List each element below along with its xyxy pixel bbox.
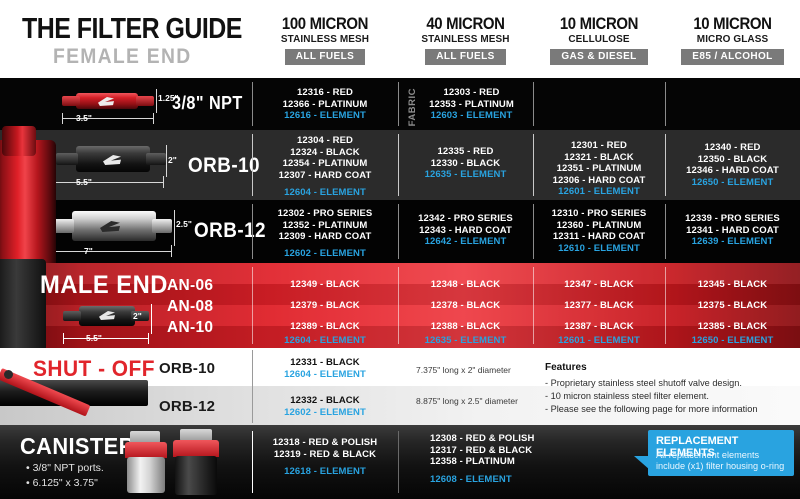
row-label-an06: AN-06 [167,277,213,295]
dimension-tick-right [148,333,149,344]
part-code: 12304 - RED [252,135,398,147]
cell-npt-10micron-cellulose [533,78,665,130]
part-code: 12316 - RED [252,87,398,99]
valve-pivot-icon [4,370,13,379]
filter-end-left [56,153,78,165]
part-code: 12303 - RED [410,87,533,99]
cell-npt-10micron-microglass [665,78,800,130]
part-code: 12387 - BLACK [533,321,665,333]
female-end-subtitle: FEMALE END [53,45,191,69]
column-fuel-badge: E85 / ALCOHOL [681,49,783,65]
part-code: 12331 - BLACK [252,357,398,369]
dimension-tick-left [62,113,63,124]
part-code: 12349 - BLACK [252,279,398,291]
canister-photo-polish [124,431,168,493]
part-code-element: 12635 - ELEMENT [398,335,533,347]
cell-npt-100micron: 12316 - RED 12366 - PLATINUM 12616 - ELE… [252,78,398,130]
filter-guide-page: THE FILTER GUIDE FEMALE END 100 MICRON S… [0,0,800,499]
part-code-element: 12642 - ELEMENT [398,236,533,248]
part-code: 12375 - BLACK [665,300,800,312]
part-code: 12306 - HARD COAT [533,175,665,187]
part-code-element: 12603 - ELEMENT [410,110,533,122]
canister-cap [173,440,219,457]
page-title: THE FILTER GUIDE [22,13,242,46]
part-code: 12339 - PRO SERIES [665,213,800,225]
dimension-line-diameter [174,210,175,246]
column-material-label: STAINLESS MESH [401,33,529,46]
column-material-label: CELLULOSE [536,33,661,46]
part-code-element: 12650 - ELEMENT [665,335,800,347]
part-code: 12350 - BLACK [665,154,800,166]
cell-canister-100micron: 12318 - RED & POLISH 12319 - RED & BLACK… [252,425,398,499]
part-code: 12352 - PLATINUM [252,220,398,232]
canister-label: CANISTER [20,433,135,460]
dimension-line-length [63,338,149,339]
shutoff-section: SHUT - OFF ORB-10 ORB-12 12331 - BLACK 1… [0,348,800,425]
part-code-element: 12639 - ELEMENT [665,236,800,248]
column-fuel-badge: ALL FUELS [425,49,505,65]
part-code: 12335 - RED [398,146,533,158]
part-code: 12348 - BLACK [398,279,533,291]
part-code: 12353 - PLATINUM [410,99,533,111]
table-row-npt: 3.5" 1.25" 3/8" NPT 12316 - RED 12366 - … [0,78,800,130]
part-code: 12330 - BLACK [398,158,533,170]
row-label-shutoff-orb10: ORB-10 [159,360,215,377]
column-header-10-micron-micro-glass: 10 MICRON MICRO GLASS E85 / ALCOHOL [665,14,800,65]
filter-illustration-npt [62,91,154,111]
column-header-100-micron: 100 MICRON STAINLESS MESH ALL FUELS [252,14,398,65]
cell-male-10micron-cellulose: 12347 - BLACK 12377 - BLACK 12387 - BLAC… [533,263,665,348]
cell-male-100micron: 12349 - BLACK 12379 - BLACK 12389 - BLAC… [252,263,398,348]
part-code-element: 12604 - ELEMENT [252,369,398,381]
filter-illustration-orb10 [56,146,166,172]
cell-npt-40micron: FABRIC 12303 - RED 12353 - PLATINUM 1260… [398,78,533,130]
filter-end-right [152,219,172,233]
part-code-element: 12635 - ELEMENT [398,169,533,181]
cell-male-40micron: 12348 - BLACK 12378 - BLACK 12388 - BLAC… [398,263,533,348]
part-code: 12302 - PRO SERIES [252,208,398,220]
part-code: 12379 - BLACK [252,300,398,312]
part-code: 12341 - HARD COAT [665,225,800,237]
replacement-badge-line1: All replacement elements [656,450,759,460]
part-code: 12366 - PLATINUM [252,99,398,111]
part-code: 12340 - RED [665,142,800,154]
shutoff-dims-orb12: 8.875" long x 2.5" diameter [416,396,518,406]
part-code: 12347 - BLACK [533,279,665,291]
part-code: 12319 - RED & BLACK [252,449,398,461]
dimension-line-length [50,251,172,252]
part-code: 12345 - BLACK [665,279,800,291]
dimension-tick-right [163,176,164,188]
row-label-an08: AN-08 [167,298,213,316]
part-code-element: 12650 - ELEMENT [665,177,800,189]
part-code: 12308 - RED & POLISH [430,433,610,445]
column-material-label: STAINLESS MESH [256,33,395,46]
canister-photo-black [172,429,220,495]
cell-canister-10micron-cellulose: 12308 - RED & POLISH 12317 - RED & BLACK… [430,425,610,499]
feature-item: - 10 micron stainless steel filter eleme… [545,391,709,401]
replacement-badge-line2: include (x1) filter housing o-ring [656,461,784,471]
cell-shutoff-orb10-codes: 12331 - BLACK 12604 - ELEMENT 12332 - BL… [252,348,398,425]
part-code: 12310 - PRO SERIES [533,208,665,220]
part-code: 12343 - HARD COAT [398,225,533,237]
part-code: 12354 - PLATINUM [252,158,398,170]
part-code: 12311 - HARD COAT [533,231,665,243]
part-code-element: 12618 - ELEMENT [252,466,398,478]
column-header-40-micron: 40 MICRON STAINLESS MESH ALL FUELS [398,14,533,65]
dimension-line-diameter [156,89,157,113]
canister-body [175,456,217,495]
feature-item: - Please see the following page for more… [545,404,757,414]
part-code: 12346 - HARD COAT [665,165,800,177]
part-code: 12389 - BLACK [252,321,398,333]
cell-orb12-100micron: 12302 - PRO SERIES 12352 - PLATINUM 1230… [252,200,398,263]
part-code: 12324 - BLACK [252,147,398,159]
part-code: 12377 - BLACK [533,300,665,312]
column-fuel-badge: ALL FUELS [285,49,365,65]
features-title: Features [545,362,587,373]
cell-orb10-100micron: 12304 - RED 12324 - BLACK 12354 - PLATIN… [252,130,398,200]
column-header-10-micron-cellulose: 10 MICRON CELLULOSE GAS & DIESEL [533,14,665,65]
part-code: 12309 - HARD COAT [252,231,398,243]
filter-illustration-orb12 [50,211,172,241]
part-code: 12332 - BLACK [252,395,398,407]
part-code: 12321 - BLACK [533,152,665,164]
replacement-elements-badge: REPLACEMENT ELEMENTS All replacement ele… [648,430,794,476]
dimension-tick-right [153,113,154,124]
part-code: 12318 - RED & POLISH [252,437,398,449]
part-code-element: 12610 - ELEMENT [533,243,665,255]
canister-body [127,457,165,493]
part-code: 12317 - RED & BLACK [430,445,610,457]
part-code-element: 12601 - ELEMENT [533,335,665,347]
female-end-section: 3.5" 1.25" 3/8" NPT 12316 - RED 12366 - … [0,78,800,263]
row-label-orb10: ORB-10 [188,154,260,178]
cell-orb10-40micron: 12335 - RED 12330 - BLACK 12635 - ELEMEN… [398,130,533,200]
header: THE FILTER GUIDE FEMALE END 100 MICRON S… [0,0,800,78]
part-code: 12307 - HARD COAT [252,170,398,182]
part-code: 12358 - PLATINUM [430,456,610,468]
column-micron-label: 10 MICRON [673,14,792,33]
column-micron-label: 10 MICRON [541,14,657,33]
dimension-line-length [54,182,164,183]
dimension-line-diameter [151,304,152,334]
dimension-diameter-label: 2" [133,311,142,321]
table-row-orb12: 7" 2.5" ORB-12 12302 - PRO SERIES 12352 … [0,200,800,263]
part-code-element: 12601 - ELEMENT [533,186,665,198]
column-divider [398,431,399,493]
column-micron-label: 40 MICRON [406,14,525,33]
shutoff-dims-orb10: 7.375" long x 2" diameter [416,365,511,375]
part-code: 12385 - BLACK [665,321,800,333]
canister-cap [125,442,167,458]
part-code: 12360 - PLATINUM [533,220,665,232]
part-code: 12388 - BLACK [398,321,533,333]
dimension-diameter-label: 2" [168,155,177,165]
part-code: 12301 - RED [533,140,665,152]
replacement-badge-body: All replacement elements include (x1) fi… [656,450,784,473]
part-code-element: 12616 - ELEMENT [252,110,398,122]
row-label-shutoff-orb12: ORB-12 [159,398,215,415]
cell-orb12-10micron-microglass: 12339 - PRO SERIES 12341 - HARD COAT 126… [665,200,800,263]
part-code-element: 12604 - ELEMENT [252,187,398,199]
column-material-label: MICRO GLASS [668,33,796,46]
cell-orb12-10micron-cellulose: 12310 - PRO SERIES 12360 - PLATINUM 1231… [533,200,665,263]
part-code: 12351 - PLATINUM [533,163,665,175]
cell-orb12-40micron: 12342 - PRO SERIES 12343 - HARD COAT 126… [398,200,533,263]
male-end-section: MALE END 5.5" 2" AN-06 AN-08 AN-10 12349… [0,263,800,348]
part-code-element: 12602 - ELEMENT [252,407,398,419]
row-label-npt: 3/8" NPT [172,93,243,114]
column-fuel-badge: GAS & DIESEL [550,49,647,65]
filter-end-left [63,311,81,321]
feature-item: - Proprietary stainless steel shutoff va… [545,378,742,388]
filter-end-left [62,96,80,106]
table-row-orb10: 5.5" 2" ORB-10 12304 - RED 12324 - BLACK… [0,130,800,200]
dimension-tick-right [171,245,172,257]
shutoff-label: SHUT - OFF [33,356,155,382]
dimension-length-label: 5.5" [86,333,102,343]
part-code-element: 12608 - ELEMENT [430,474,610,486]
dimension-line-diameter [166,145,167,177]
dimension-length-label: 3.5" [76,113,92,123]
dimension-length-label: 7" [84,246,93,256]
dimension-length-label: 5.5" [76,177,92,187]
canister-bullet: • 3/8" NPT ports. [26,462,104,474]
cell-male-10micron-microglass: 12345 - BLACK 12375 - BLACK 12385 - BLAC… [665,263,800,348]
part-code-element: 12604 - ELEMENT [252,335,398,347]
part-code: 12378 - BLACK [398,300,533,312]
cell-orb10-10micron-cellulose: 12301 - RED 12321 - BLACK 12351 - PLATIN… [533,130,665,200]
filter-barrel [72,211,156,241]
male-end-label: MALE END [40,271,168,300]
column-micron-label: 100 MICRON [261,14,389,33]
filter-end-right [136,96,154,106]
dimension-tick-left [63,333,64,344]
canister-bullet: • 6.125" x 3.75" [26,477,98,489]
part-code-element: 12602 - ELEMENT [252,248,398,260]
row-label-an10: AN-10 [167,319,213,337]
part-code: 12342 - PRO SERIES [398,213,533,225]
cell-orb10-10micron-microglass: 12340 - RED 12350 - BLACK 12346 - HARD C… [665,130,800,200]
dimension-diameter-label: 2.5" [176,219,192,229]
filter-end-right [146,153,166,165]
